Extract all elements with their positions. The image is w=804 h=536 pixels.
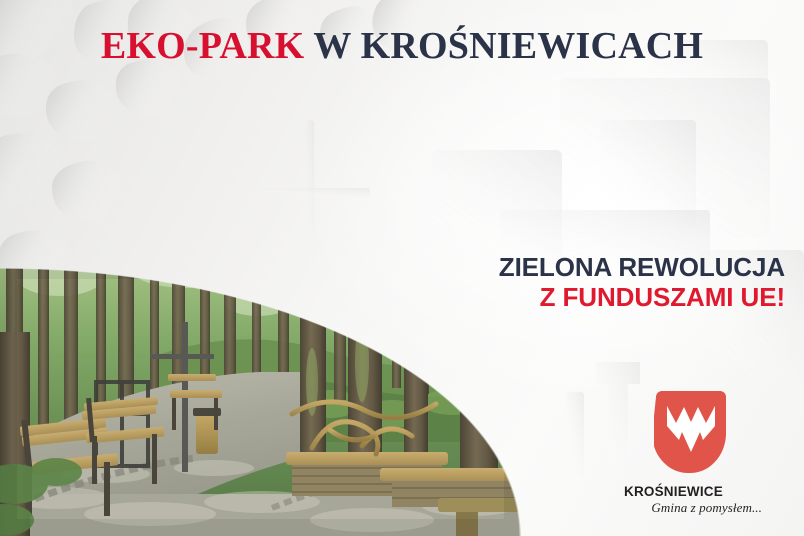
tagline-line-2: Z FUNDUSZAMI UE! — [499, 282, 785, 312]
logo-municipality-name: KROŚNIEWICE — [616, 484, 766, 499]
logo-motto: Gmina z pomysłem... — [616, 500, 766, 516]
municipality-logo: KROŚNIEWICE Gmina z pomysłem... — [616, 389, 766, 516]
krosniewice-coat-of-arms-shield-icon — [654, 389, 728, 475]
title-highlight: EKO-PARK — [101, 25, 305, 67]
title-rest: W KROŚNIEWICACH — [304, 25, 703, 67]
poster-tagline: ZIELONA REWOLUCJA Z FUNDUSZAMI UE! — [499, 252, 785, 313]
poster-title: EKO-PARK W KROŚNIEWICACH — [0, 27, 804, 65]
tagline-line-1: ZIELONA REWOLUCJA — [499, 252, 785, 282]
poster-canvas: EKO-PARK W KROŚNIEWICACH ZIELONA REWOLUC… — [0, 0, 804, 536]
park-photo — [0, 262, 521, 536]
